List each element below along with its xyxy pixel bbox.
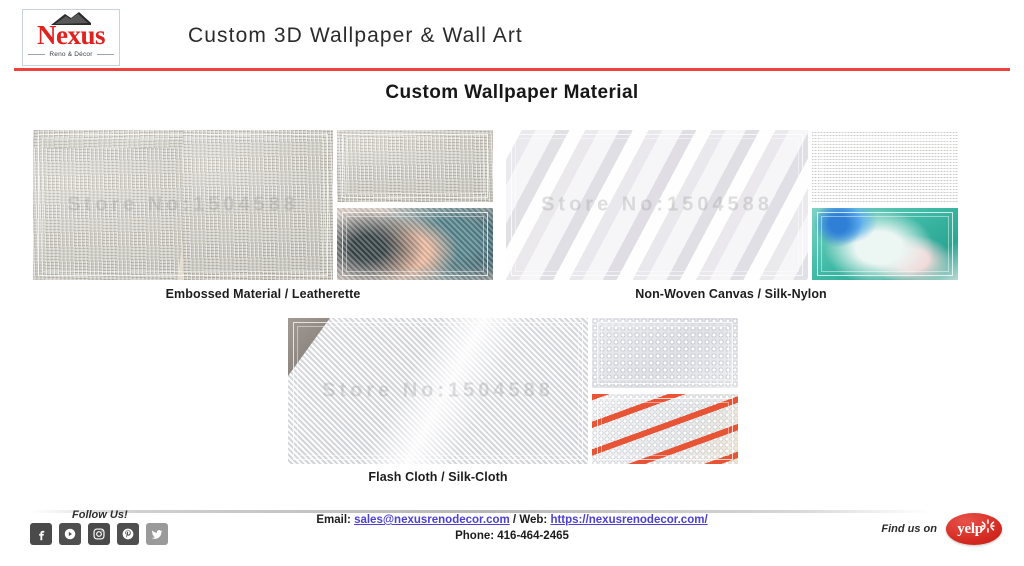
material-thumb-1[interactable] [592, 318, 738, 388]
logo-rule-left [28, 54, 45, 55]
material-thumb-1[interactable] [337, 130, 493, 202]
material-group-flashcloth: Store No:1504588 Flash Cloth / Silk-Clot… [288, 318, 738, 490]
contact-separator: / [510, 514, 520, 526]
material-thumb-1[interactable] [812, 130, 958, 202]
page-title: Custom Wallpaper Material [0, 82, 1024, 104]
logo-rule-right [97, 54, 114, 55]
page-footer: Follow Us! Email: sales@nexusrenodecor.c… [0, 497, 1024, 566]
material-caption: Flash Cloth / Silk-Cloth [288, 470, 588, 484]
yelp-icon[interactable]: yelp [946, 513, 1002, 545]
material-group-embossed: Store No:1504588 Embossed Material / Lea… [33, 130, 493, 305]
material-photo-main[interactable]: Store No:1504588 [288, 318, 588, 464]
yelp-label: Find us on [881, 523, 937, 535]
header-divider [14, 68, 1010, 71]
contact-info: Email: sales@nexusrenodecor.com / Web: h… [0, 512, 1024, 544]
email-label: Email: [316, 514, 351, 526]
material-group-nonwoven: Store No:1504588 Non-Woven Canvas / Silk… [506, 130, 958, 305]
phone-line: Phone: 416-464-2465 [0, 528, 1024, 544]
yelp-wordmark: yelp [957, 521, 982, 538]
page-header: Nexus Reno & Décor Custom 3D Wallpaper &… [0, 0, 1024, 70]
material-photo-main[interactable]: Store No:1504588 [33, 130, 333, 280]
material-thumb-2[interactable] [337, 208, 493, 280]
contact-line-1: Email: sales@nexusrenodecor.com / Web: h… [0, 512, 1024, 528]
material-caption: Embossed Material / Leatherette [103, 287, 423, 301]
yelp-burst-icon [981, 519, 995, 533]
header-title: Custom 3D Wallpaper & Wall Art [188, 24, 523, 48]
website-link[interactable]: https://nexusrenodecor.com/ [550, 514, 707, 526]
brand-logo[interactable]: Nexus Reno & Décor [22, 9, 120, 66]
material-caption: Non-Woven Canvas / Silk-Nylon [556, 287, 906, 301]
material-thumb-2[interactable] [592, 394, 738, 464]
web-label: Web: [519, 514, 547, 526]
material-photo-main[interactable]: Store No:1504588 [506, 130, 808, 280]
email-link[interactable]: sales@nexusrenodecor.com [354, 514, 510, 526]
logo-tagline-row: Reno & Décor [28, 51, 114, 58]
mountain-roof-icon [49, 11, 93, 27]
yelp-badge-group[interactable]: Find us on yelp [881, 513, 1002, 545]
material-thumb-2[interactable] [812, 208, 958, 280]
logo-tagline: Reno & Décor [49, 51, 92, 58]
